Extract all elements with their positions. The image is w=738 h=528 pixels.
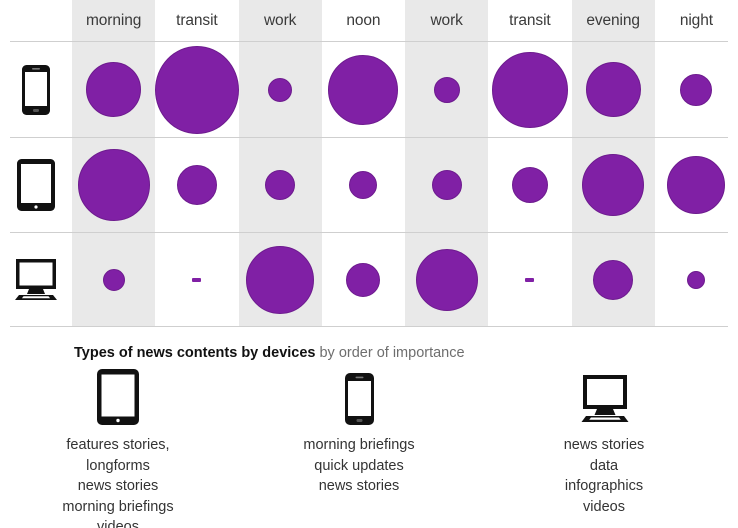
column-header-row: morningtransitworknoonworktransitevening…	[0, 0, 738, 42]
column-header-morning-0[interactable]: morning	[72, 0, 155, 42]
legend-column-desktop: news storiesdatainfographicsvideos	[504, 370, 704, 517]
desktop-icon	[578, 374, 630, 426]
legend-icon-wrap-desktop	[504, 370, 704, 426]
legend-title-strong: Types of news contents by devices	[74, 345, 315, 361]
bubble-smartphone-morning-0	[86, 62, 141, 117]
tablet-icon	[96, 368, 140, 426]
row-device-icon-smartphone	[0, 42, 72, 137]
bubble-cell-desktop-transit-5[interactable]	[488, 233, 571, 326]
legend-icon-wrap-smartphone	[259, 370, 459, 426]
column-header-work-4[interactable]: work	[405, 0, 488, 42]
bubble-tablet-evening-6	[582, 154, 644, 216]
bubble-desktop-morning-0	[103, 269, 125, 291]
legend-items-desktop: news storiesdatainfographicsvideos	[504, 435, 704, 517]
row-device-icon-desktop	[0, 233, 72, 326]
bubble-cell-desktop-night-7[interactable]	[655, 233, 738, 326]
bubble-smartphone-work-2	[268, 78, 292, 102]
legend-section: Types of news contents by devicesby orde…	[0, 328, 738, 528]
news-consumption-infographic: morningtransitworknoonworktransitevening…	[0, 0, 738, 528]
bubble-cell-tablet-work-2[interactable]	[239, 138, 322, 232]
column-header-transit-1[interactable]: transit	[155, 0, 238, 42]
bubble-smartphone-work-4	[434, 77, 460, 103]
legend-items-tablet: features stories,longformsnews storiesmo…	[18, 435, 218, 528]
bubble-desktop-transit-5	[525, 278, 534, 282]
bubble-cell-tablet-evening-6[interactable]	[572, 138, 655, 232]
bubble-cell-tablet-morning-0[interactable]	[72, 138, 155, 232]
legend-title: Types of news contents by devicesby orde…	[74, 345, 465, 361]
bubble-cell-smartphone-noon-3[interactable]	[322, 42, 405, 137]
matrix-row-tablet	[0, 138, 738, 232]
bubble-cell-desktop-work-4[interactable]	[405, 233, 488, 326]
bubble-cell-tablet-noon-3[interactable]	[322, 138, 405, 232]
bubble-smartphone-noon-3	[328, 55, 398, 125]
legend-item-smartphone-1: quick updates	[259, 456, 459, 477]
row-divider-bottom	[10, 326, 728, 327]
bubble-cell-desktop-morning-0[interactable]	[72, 233, 155, 326]
column-header-noon-3[interactable]: noon	[322, 0, 405, 42]
bubble-cell-desktop-work-2[interactable]	[239, 233, 322, 326]
legend-item-tablet-0: features stories,	[18, 435, 218, 456]
desktop-icon	[13, 258, 59, 302]
bubble-smartphone-transit-1	[155, 46, 238, 134]
bubble-tablet-noon-3	[349, 171, 377, 199]
legend-column-smartphone: morning briefingsquick updatesnews stori…	[259, 370, 459, 497]
bubble-tablet-work-2	[265, 170, 295, 200]
legend-item-tablet-4: videos	[18, 517, 218, 528]
bubble-desktop-work-4	[416, 249, 478, 311]
bubble-desktop-work-2	[246, 246, 314, 314]
smartphone-icon	[21, 64, 51, 116]
column-header-work-2[interactable]: work	[239, 0, 322, 42]
bubble-cell-tablet-transit-5[interactable]	[488, 138, 571, 232]
legend-item-desktop-0: news stories	[504, 435, 704, 456]
bubble-cell-smartphone-work-4[interactable]	[405, 42, 488, 137]
bubble-desktop-evening-6	[593, 260, 633, 300]
legend-item-tablet-3: morning briefings	[18, 497, 218, 518]
legend-item-smartphone-0: morning briefings	[259, 435, 459, 456]
bubble-tablet-transit-1	[177, 165, 217, 205]
bubble-cell-smartphone-morning-0[interactable]	[72, 42, 155, 137]
legend-item-desktop-3: videos	[504, 497, 704, 518]
bubble-tablet-transit-5	[512, 167, 548, 203]
bubble-cell-smartphone-night-7[interactable]	[655, 42, 738, 137]
legend-item-smartphone-2: news stories	[259, 476, 459, 497]
legend-item-desktop-1: data	[504, 456, 704, 477]
legend-item-tablet-2: news stories	[18, 476, 218, 497]
bubble-cell-desktop-noon-3[interactable]	[322, 233, 405, 326]
legend-icon-wrap-tablet	[18, 370, 218, 426]
column-header-night-7[interactable]: night	[655, 0, 738, 42]
bubble-cell-smartphone-work-2[interactable]	[239, 42, 322, 137]
bubble-matrix: morningtransitworknoonworktransitevening…	[0, 0, 738, 328]
bubble-tablet-night-7	[667, 156, 725, 214]
legend-item-desktop-2: infographics	[504, 476, 704, 497]
matrix-row-smartphone	[0, 42, 738, 137]
bubble-desktop-transit-1	[192, 278, 201, 282]
bubble-desktop-noon-3	[346, 263, 380, 297]
legend-title-sub: by order of importance	[319, 345, 464, 361]
bubble-smartphone-night-7	[680, 74, 712, 106]
legend-column-tablet: features stories,longformsnews storiesmo…	[18, 370, 218, 528]
bubble-smartphone-evening-6	[586, 62, 641, 117]
bubble-tablet-morning-0	[78, 149, 150, 221]
bubble-cell-tablet-work-4[interactable]	[405, 138, 488, 232]
legend-item-tablet-1: longforms	[18, 456, 218, 477]
column-header-transit-5[interactable]: transit	[488, 0, 571, 42]
bubble-cell-smartphone-evening-6[interactable]	[572, 42, 655, 137]
legend-items-smartphone: morning briefingsquick updatesnews stori…	[259, 435, 459, 497]
row-device-icon-tablet	[0, 138, 72, 232]
bubble-cell-desktop-transit-1[interactable]	[155, 233, 238, 326]
bubble-cell-tablet-night-7[interactable]	[655, 138, 738, 232]
column-header-evening-6[interactable]: evening	[572, 0, 655, 42]
bubble-cell-smartphone-transit-1[interactable]	[155, 42, 238, 137]
bubble-smartphone-transit-5	[492, 52, 568, 128]
bubble-cell-smartphone-transit-5[interactable]	[488, 42, 571, 137]
bubble-cell-tablet-transit-1[interactable]	[155, 138, 238, 232]
bubble-cell-desktop-evening-6[interactable]	[572, 233, 655, 326]
bubble-tablet-work-4	[432, 170, 462, 200]
smartphone-icon	[344, 372, 375, 426]
bubble-desktop-night-7	[687, 271, 705, 289]
tablet-icon	[16, 158, 56, 212]
matrix-row-desktop	[0, 233, 738, 326]
